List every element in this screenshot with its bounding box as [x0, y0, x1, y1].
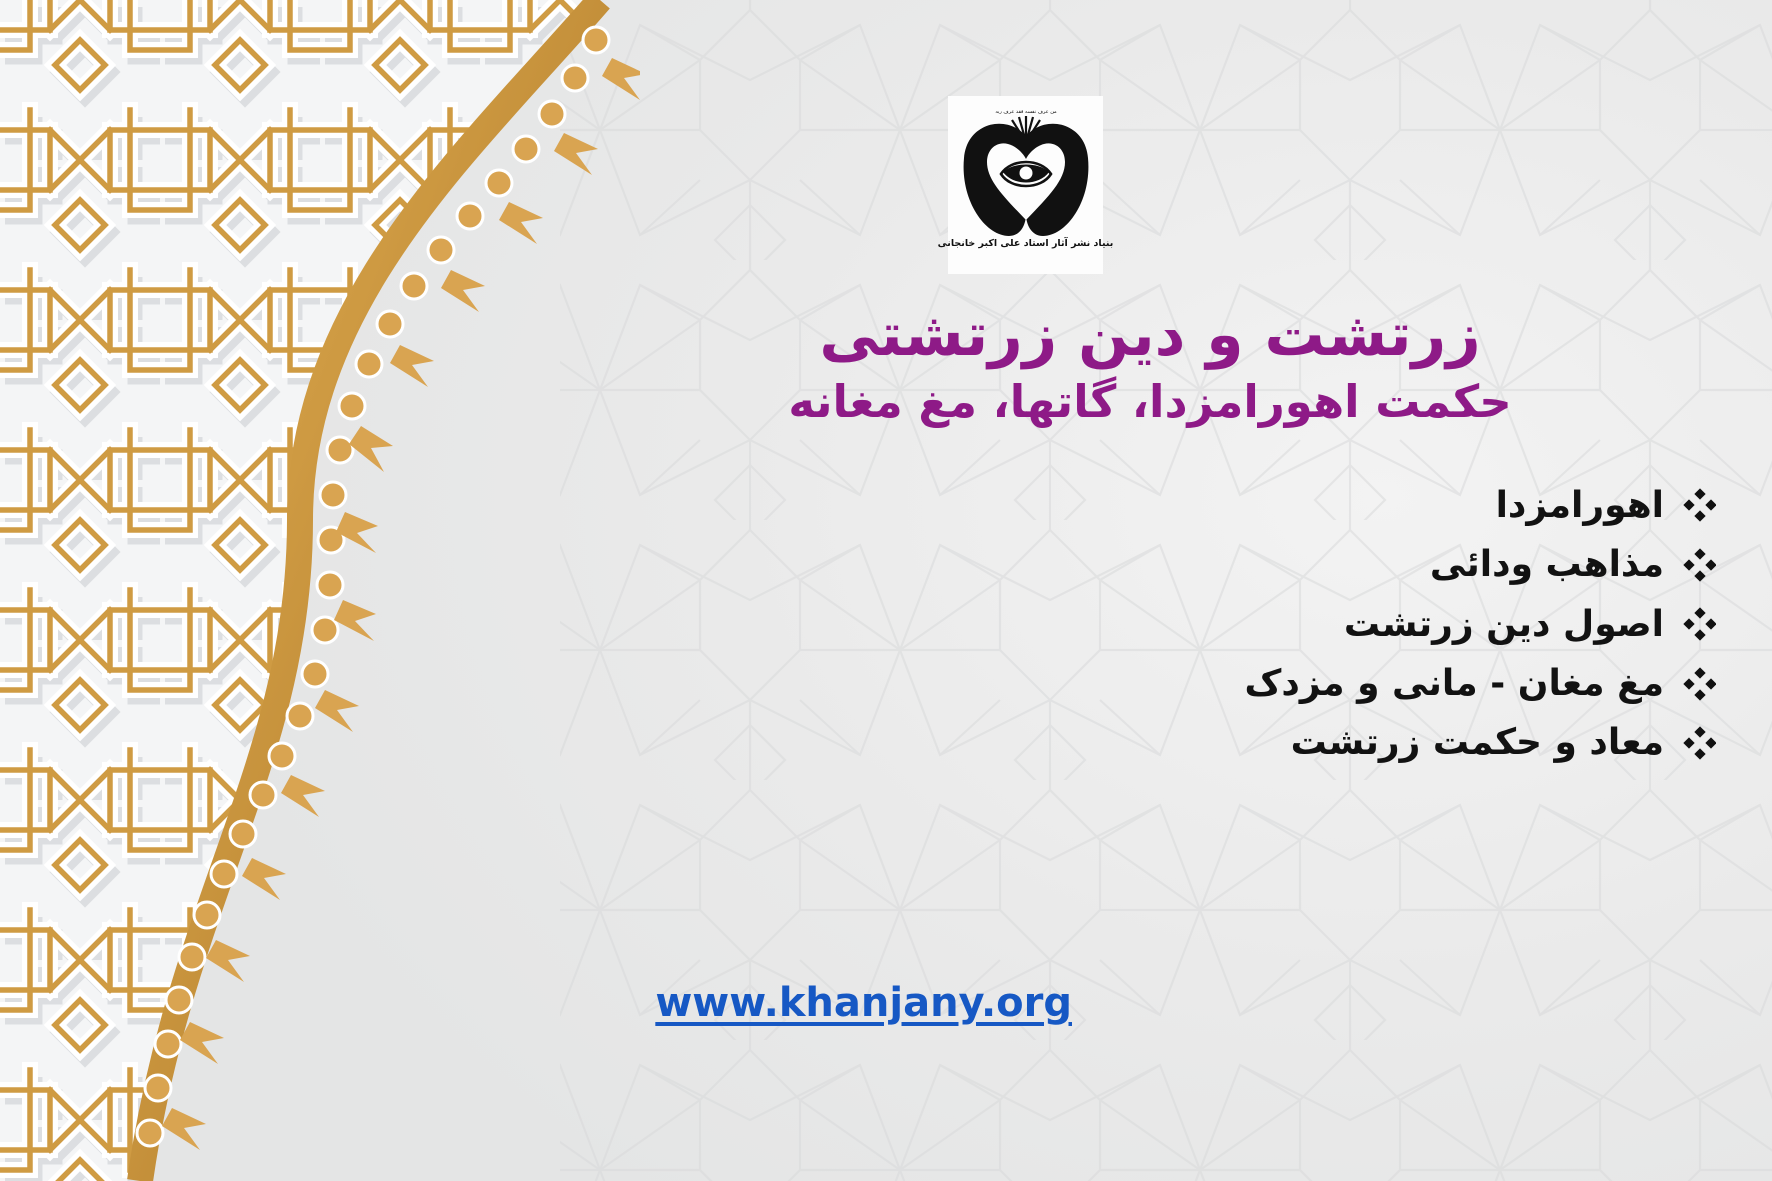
list-item-label: مذاهب ودائی	[1430, 544, 1664, 585]
website-link[interactable]: www.khanjany.org	[655, 980, 1072, 1026]
list-item-label: اهورامزدا	[1496, 485, 1664, 526]
publisher-logo: من عرف نفسه فقد عرف ربه بنیاد نشر آثار ا…	[948, 96, 1103, 274]
topic-list: اهورامزدا مذاهب ودائی	[580, 485, 1720, 764]
list-item: مذاهب ودائی	[580, 544, 1720, 585]
list-item: اهورامزدا	[580, 485, 1720, 526]
diamond-cluster-bullet-icon	[1682, 667, 1716, 701]
heart-eye-crown-icon: من عرف نفسه فقد عرف ربه	[951, 96, 1101, 246]
list-item: معاد و حکمت زرتشت	[580, 722, 1720, 763]
list-item: مغ مغان - مانی و مزدک	[580, 663, 1720, 704]
logo-caption: بنیاد نشر آثار استاد علی اکبر خانجانی	[938, 238, 1114, 249]
left-ornament-panel	[0, 0, 640, 1181]
diamond-cluster-bullet-icon	[1682, 488, 1716, 522]
svg-text:من عرف نفسه فقد عرف ربه: من عرف نفسه فقد عرف ربه	[995, 109, 1057, 115]
content-column: زرتشت و دین زرتشتی حکمت اهورامزدا، گاتها…	[580, 300, 1720, 782]
diamond-cluster-bullet-icon	[1682, 726, 1716, 760]
diamond-cluster-bullet-icon	[1682, 607, 1716, 641]
list-item-label: معاد و حکمت زرتشت	[1291, 722, 1664, 763]
islamic-lattice-artwork	[0, 0, 640, 1181]
list-item: اصول دین زرتشت	[580, 604, 1720, 645]
diamond-cluster-bullet-icon	[1682, 548, 1716, 582]
list-item-label: مغ مغان - مانی و مزدک	[1245, 663, 1664, 704]
page-title: زرتشت و دین زرتشتی	[580, 300, 1720, 371]
list-item-label: اصول دین زرتشت	[1344, 604, 1664, 645]
page-subtitle: حکمت اهورامزدا، گاتها، مغ مغانه	[580, 375, 1720, 429]
poster-canvas: من عرف نفسه فقد عرف ربه بنیاد نشر آثار ا…	[0, 0, 1772, 1181]
website-link-wrapper: www.khanjany.org	[655, 980, 1072, 1026]
